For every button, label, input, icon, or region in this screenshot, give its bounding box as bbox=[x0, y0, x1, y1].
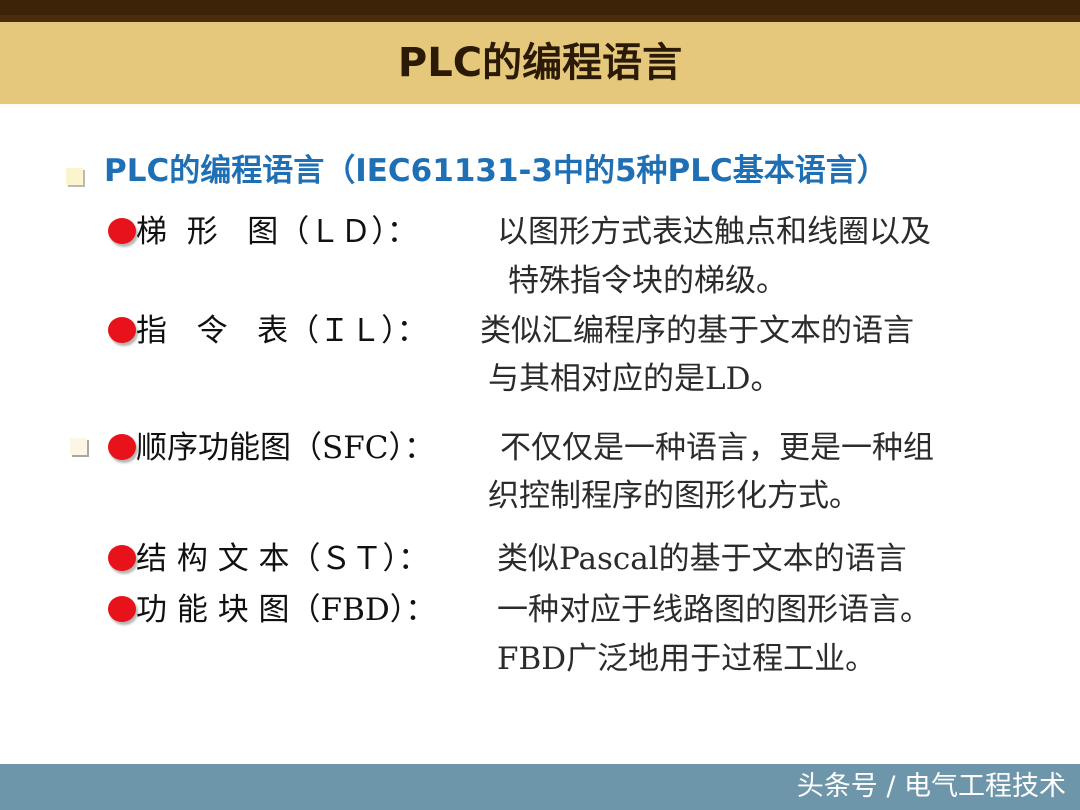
item-desc-sfc: 不仅仅是一种语言，更是一种组 bbox=[500, 422, 934, 467]
item-desc-fbd: 一种对应于线路图的图形语言。 bbox=[497, 584, 931, 629]
heading-text: PLC的编程语言（IEC61131-3中的5种PLC基本语言） bbox=[104, 145, 888, 190]
red-dot-icon bbox=[108, 596, 136, 622]
red-dot-icon bbox=[108, 218, 136, 244]
item-cont-sfc: 织控制程序的图形化方式。 bbox=[488, 470, 860, 515]
item-desc-il: 类似汇编程序的基于文本的语言 bbox=[480, 305, 914, 350]
item-term-st: 结 构 文 本（ＳＴ）： bbox=[136, 533, 429, 578]
item-desc-ld: 以图形方式表达触点和线圈以及 bbox=[497, 206, 931, 251]
item-term-il: 指 令 表（ＩＬ）： bbox=[136, 305, 428, 350]
heading-row: PLC的编程语言（IEC61131-3中的5种PLC基本语言） bbox=[0, 150, 1080, 198]
red-dot-icon bbox=[108, 545, 136, 571]
square-bullet-icon bbox=[66, 168, 83, 185]
red-dot-icon bbox=[108, 434, 136, 460]
item-desc-st: 类似Pascal的基于文本的语言 bbox=[497, 533, 907, 578]
page-title: PLC的编程语言 bbox=[0, 36, 1080, 90]
item-cont-ld: 特殊指令块的梯级。 bbox=[508, 255, 787, 300]
footer-watermark: 头条号 / 电气工程技术 bbox=[797, 764, 1066, 810]
title-band-edge bbox=[0, 104, 1080, 108]
item-term-fbd: 功 能 块 图（FBD）： bbox=[136, 584, 436, 629]
square-bullet-icon bbox=[70, 438, 87, 455]
slide-canvas: PLC的编程语言 PLC的编程语言（IEC61131-3中的5种PLC基本语言）… bbox=[0, 0, 1080, 810]
item-term-sfc: 顺序功能图（SFC）： bbox=[136, 422, 435, 467]
item-cont-il: 与其相对应的是LD。 bbox=[488, 353, 781, 398]
top-decor-bar-shadow bbox=[0, 15, 1080, 22]
red-dot-icon bbox=[108, 317, 136, 343]
item-term-ld: 梯 形 图（ＬＤ）： bbox=[136, 206, 418, 251]
item-cont-fbd: FBD广泛地用于过程工业。 bbox=[497, 633, 876, 678]
